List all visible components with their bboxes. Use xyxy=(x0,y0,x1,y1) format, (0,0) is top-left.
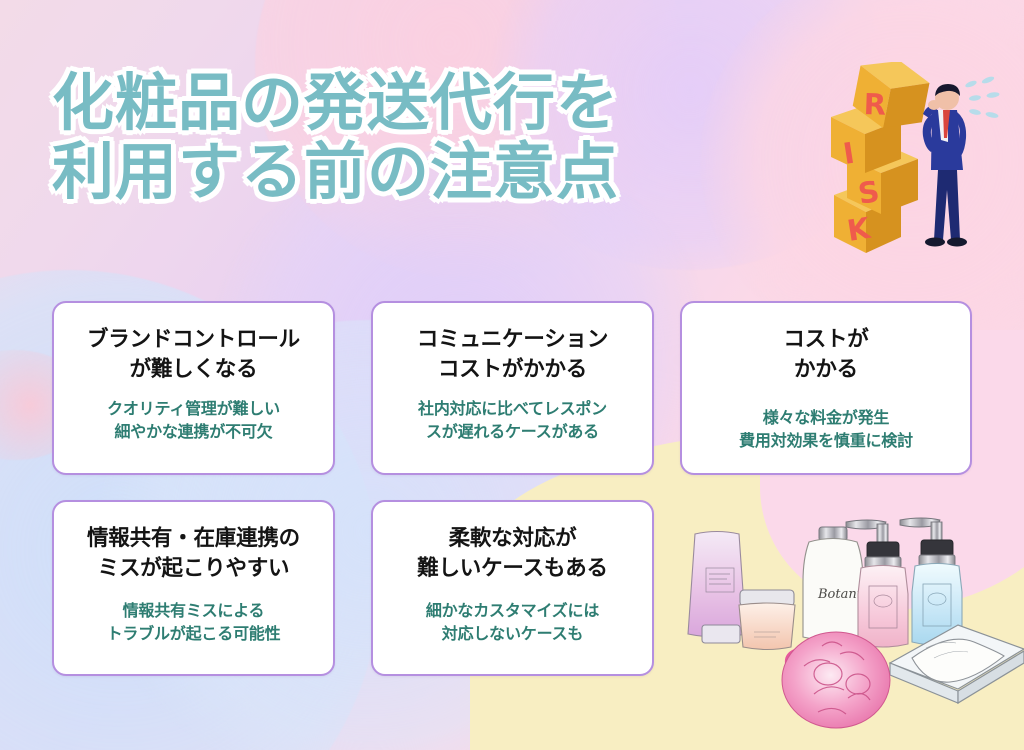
blue-pump-bottle xyxy=(900,518,962,645)
card-info-sharing-mistakes[interactable]: 情報共有・在庫連携の ミスが起こりやすい 情報共有ミスによる トラブルが起こる可… xyxy=(52,500,335,676)
svg-text:R: R xyxy=(863,87,887,122)
risk-blocks-illustration: K S I R xyxy=(805,62,1020,262)
card-heading: 柔軟な対応が 難しいケースもある xyxy=(417,524,608,584)
card-subtext: 様々な料金が発生 費用対効果を慎重に検討 xyxy=(739,407,913,452)
card-heading: ブランドコントロール が難しくなる xyxy=(87,325,300,385)
page-title: 化粧品の発送代行を 利用する前の注意点 xyxy=(52,68,619,207)
cosmetic-jar xyxy=(739,590,795,650)
businessman-figure xyxy=(923,75,1000,246)
infographic-poster: 化粧品の発送代行を 利用する前の注意点 K S I R xyxy=(0,0,1024,750)
card-subtext: 社内対応に比べてレスポン スが遅れるケースがある xyxy=(418,398,607,443)
card-subtext: 情報共有ミスによる トラブルが起こる可能性 xyxy=(107,600,281,645)
card-flexible-response[interactable]: 柔軟な対応が 難しいケースもある 細かなカスタマイズには 対応しないケースも xyxy=(371,500,654,676)
card-communication-cost[interactable]: コミュニケーション コストがかかる 社内対応に比べてレスポン スが遅れるケースが… xyxy=(371,301,654,475)
bath-pouf xyxy=(782,632,890,728)
card-heading: コミュニケーション コストがかかる xyxy=(417,325,608,385)
card-heading: 情報共有・在庫連携の ミスが起こりやすい xyxy=(87,524,300,584)
cosmetic-tube xyxy=(688,532,746,644)
card-heading: コストが かかる xyxy=(783,325,868,385)
cosmetics-illustration: Botanical xyxy=(668,498,1024,750)
card-brand-control[interactable]: ブランドコントロール が難しくなる クオリティ管理が難しい 細やかな連携が不可欠 xyxy=(52,301,335,475)
card-cost[interactable]: コストが かかる 様々な料金が発生 費用対効果を慎重に検討 xyxy=(680,301,972,475)
card-subtext: 細かなカスタマイズには 対応しないケースも xyxy=(426,600,599,645)
card-subtext: クオリティ管理が難しい 細やかな連携が不可欠 xyxy=(107,398,280,443)
soap-dish xyxy=(890,625,1024,703)
sweat-drops xyxy=(964,75,999,119)
